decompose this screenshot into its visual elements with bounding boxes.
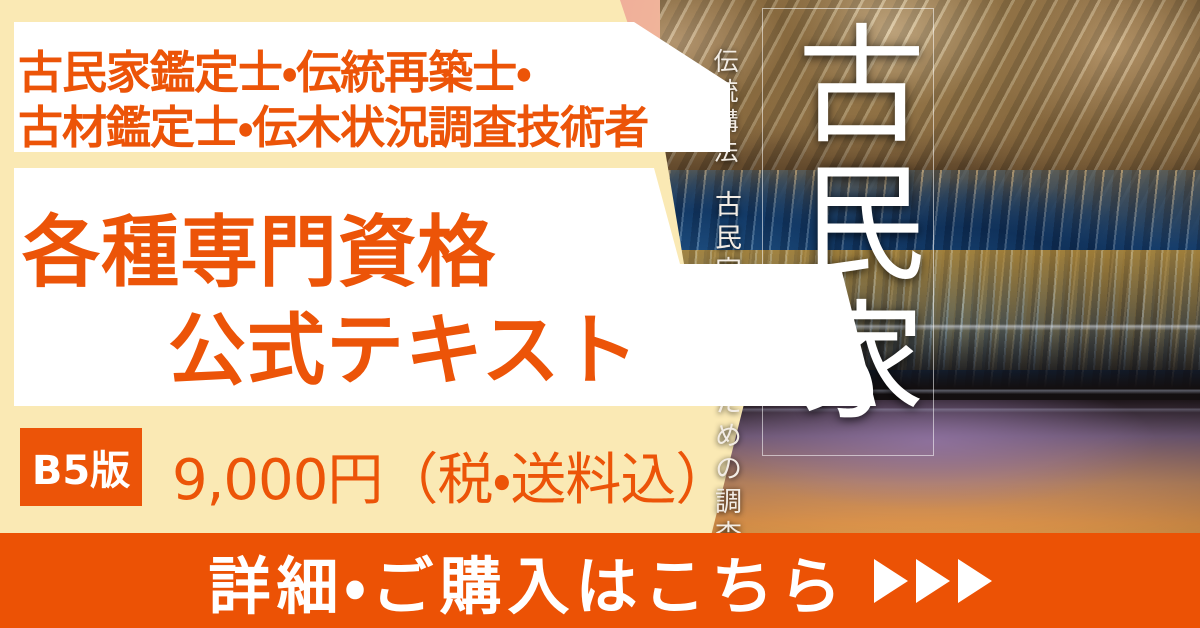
format-badge-label: B5版 <box>32 438 130 496</box>
promo-banner: 古民家 伝統構法 古民家活用のための調査と再生の 古民家鑑定士・伝統再築士・ 古… <box>0 0 1200 628</box>
format-badge: B5版 <box>20 428 142 506</box>
cta-button[interactable]: 詳細・ご購入はこちら <box>0 533 1200 628</box>
price-label: 9,000円（税・送料込） <box>172 435 730 516</box>
chevron-right-icon <box>958 559 992 603</box>
chevron-right-icon <box>916 559 950 603</box>
cta-label: 詳細・ご購入はこちら <box>208 536 847 626</box>
headline-line-1: 各種専門資格 <box>22 190 496 302</box>
cta-arrow-group <box>874 559 992 603</box>
chevron-right-icon <box>874 559 908 603</box>
qualifications-line-2: 古材鑑定士・伝木状況調査技術者 <box>18 91 648 156</box>
headline-line-2: 公式テキスト <box>168 288 640 400</box>
